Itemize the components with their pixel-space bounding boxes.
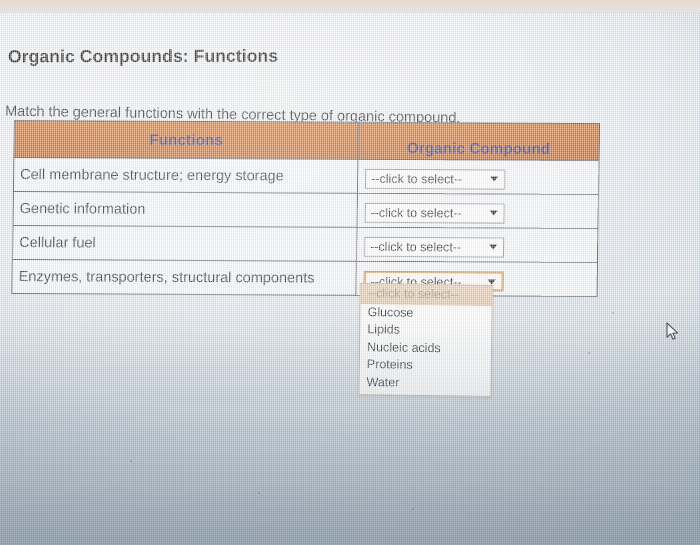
header-cell-functions: Functions: [14, 121, 359, 160]
dropdown-option-glucose[interactable]: Glucose: [360, 304, 491, 323]
compound-cell-3: --click to select--: [356, 227, 598, 262]
dropdown-option-click-to-select[interactable]: --click to select--: [361, 284, 492, 305]
function-text-2: Genetic information: [14, 200, 357, 218]
table-row: Genetic information --click to select--: [13, 191, 599, 228]
function-text-3: Cellular fuel: [13, 234, 356, 252]
header-cell-organic-compound: Organic Compound: [358, 122, 600, 160]
table-row: Cellular fuel --click to select--: [12, 225, 598, 262]
chevron-down-icon: [490, 210, 498, 215]
table-row: Cell membrane structure; energy storage …: [13, 157, 599, 194]
screen-bezel-top: [0, 0, 700, 13]
function-cell-2: Genetic information: [13, 191, 358, 227]
compound-select-2[interactable]: --click to select--: [365, 203, 505, 224]
matching-table: Functions Organic Compound Cell membrane…: [11, 120, 599, 297]
compound-select-3-value: --click to select--: [370, 240, 461, 254]
chevron-down-icon: [489, 244, 497, 249]
compound-cell-2: --click to select--: [357, 193, 599, 228]
page-title: Organic Compounds: Functions: [8, 45, 278, 67]
function-cell-4: Enzymes, transporters, structural compon…: [12, 259, 357, 295]
table-header-row: Functions Organic Compound: [14, 121, 600, 161]
chevron-down-icon: [488, 279, 496, 284]
table-row: Enzymes, transporters, structural compon…: [12, 259, 598, 296]
compound-select-2-value: --click to select--: [371, 206, 462, 220]
compound-select-1[interactable]: --click to select--: [365, 169, 505, 190]
function-cell-3: Cellular fuel: [12, 225, 357, 261]
header-label-organic-compound: Organic Compound: [358, 139, 598, 157]
function-text-1: Cell membrane structure; energy storage: [14, 167, 357, 185]
dropdown-option-lipids[interactable]: Lipids: [360, 321, 491, 340]
header-label-functions: Functions: [15, 131, 358, 150]
function-text-4: Enzymes, transporters, structural compon…: [13, 268, 356, 286]
function-cell-1: Cell membrane structure; energy storage: [13, 157, 358, 193]
compound-dropdown-list[interactable]: --click to select-- Glucose Lipids Nucle…: [358, 283, 493, 397]
screen-photo: Organic Compounds: Functions Match the g…: [0, 0, 700, 545]
compound-cell-1: --click to select--: [357, 159, 599, 194]
compound-select-3[interactable]: --click to select--: [364, 237, 504, 258]
compound-select-1-value: --click to select--: [371, 172, 462, 186]
dropdown-option-water[interactable]: Water: [359, 374, 490, 393]
dropdown-option-nucleic-acids[interactable]: Nucleic acids: [360, 339, 491, 358]
dropdown-option-proteins[interactable]: Proteins: [360, 356, 491, 375]
quiz-page: Organic Compounds: Functions Match the g…: [0, 0, 700, 545]
chevron-down-icon: [490, 176, 498, 181]
